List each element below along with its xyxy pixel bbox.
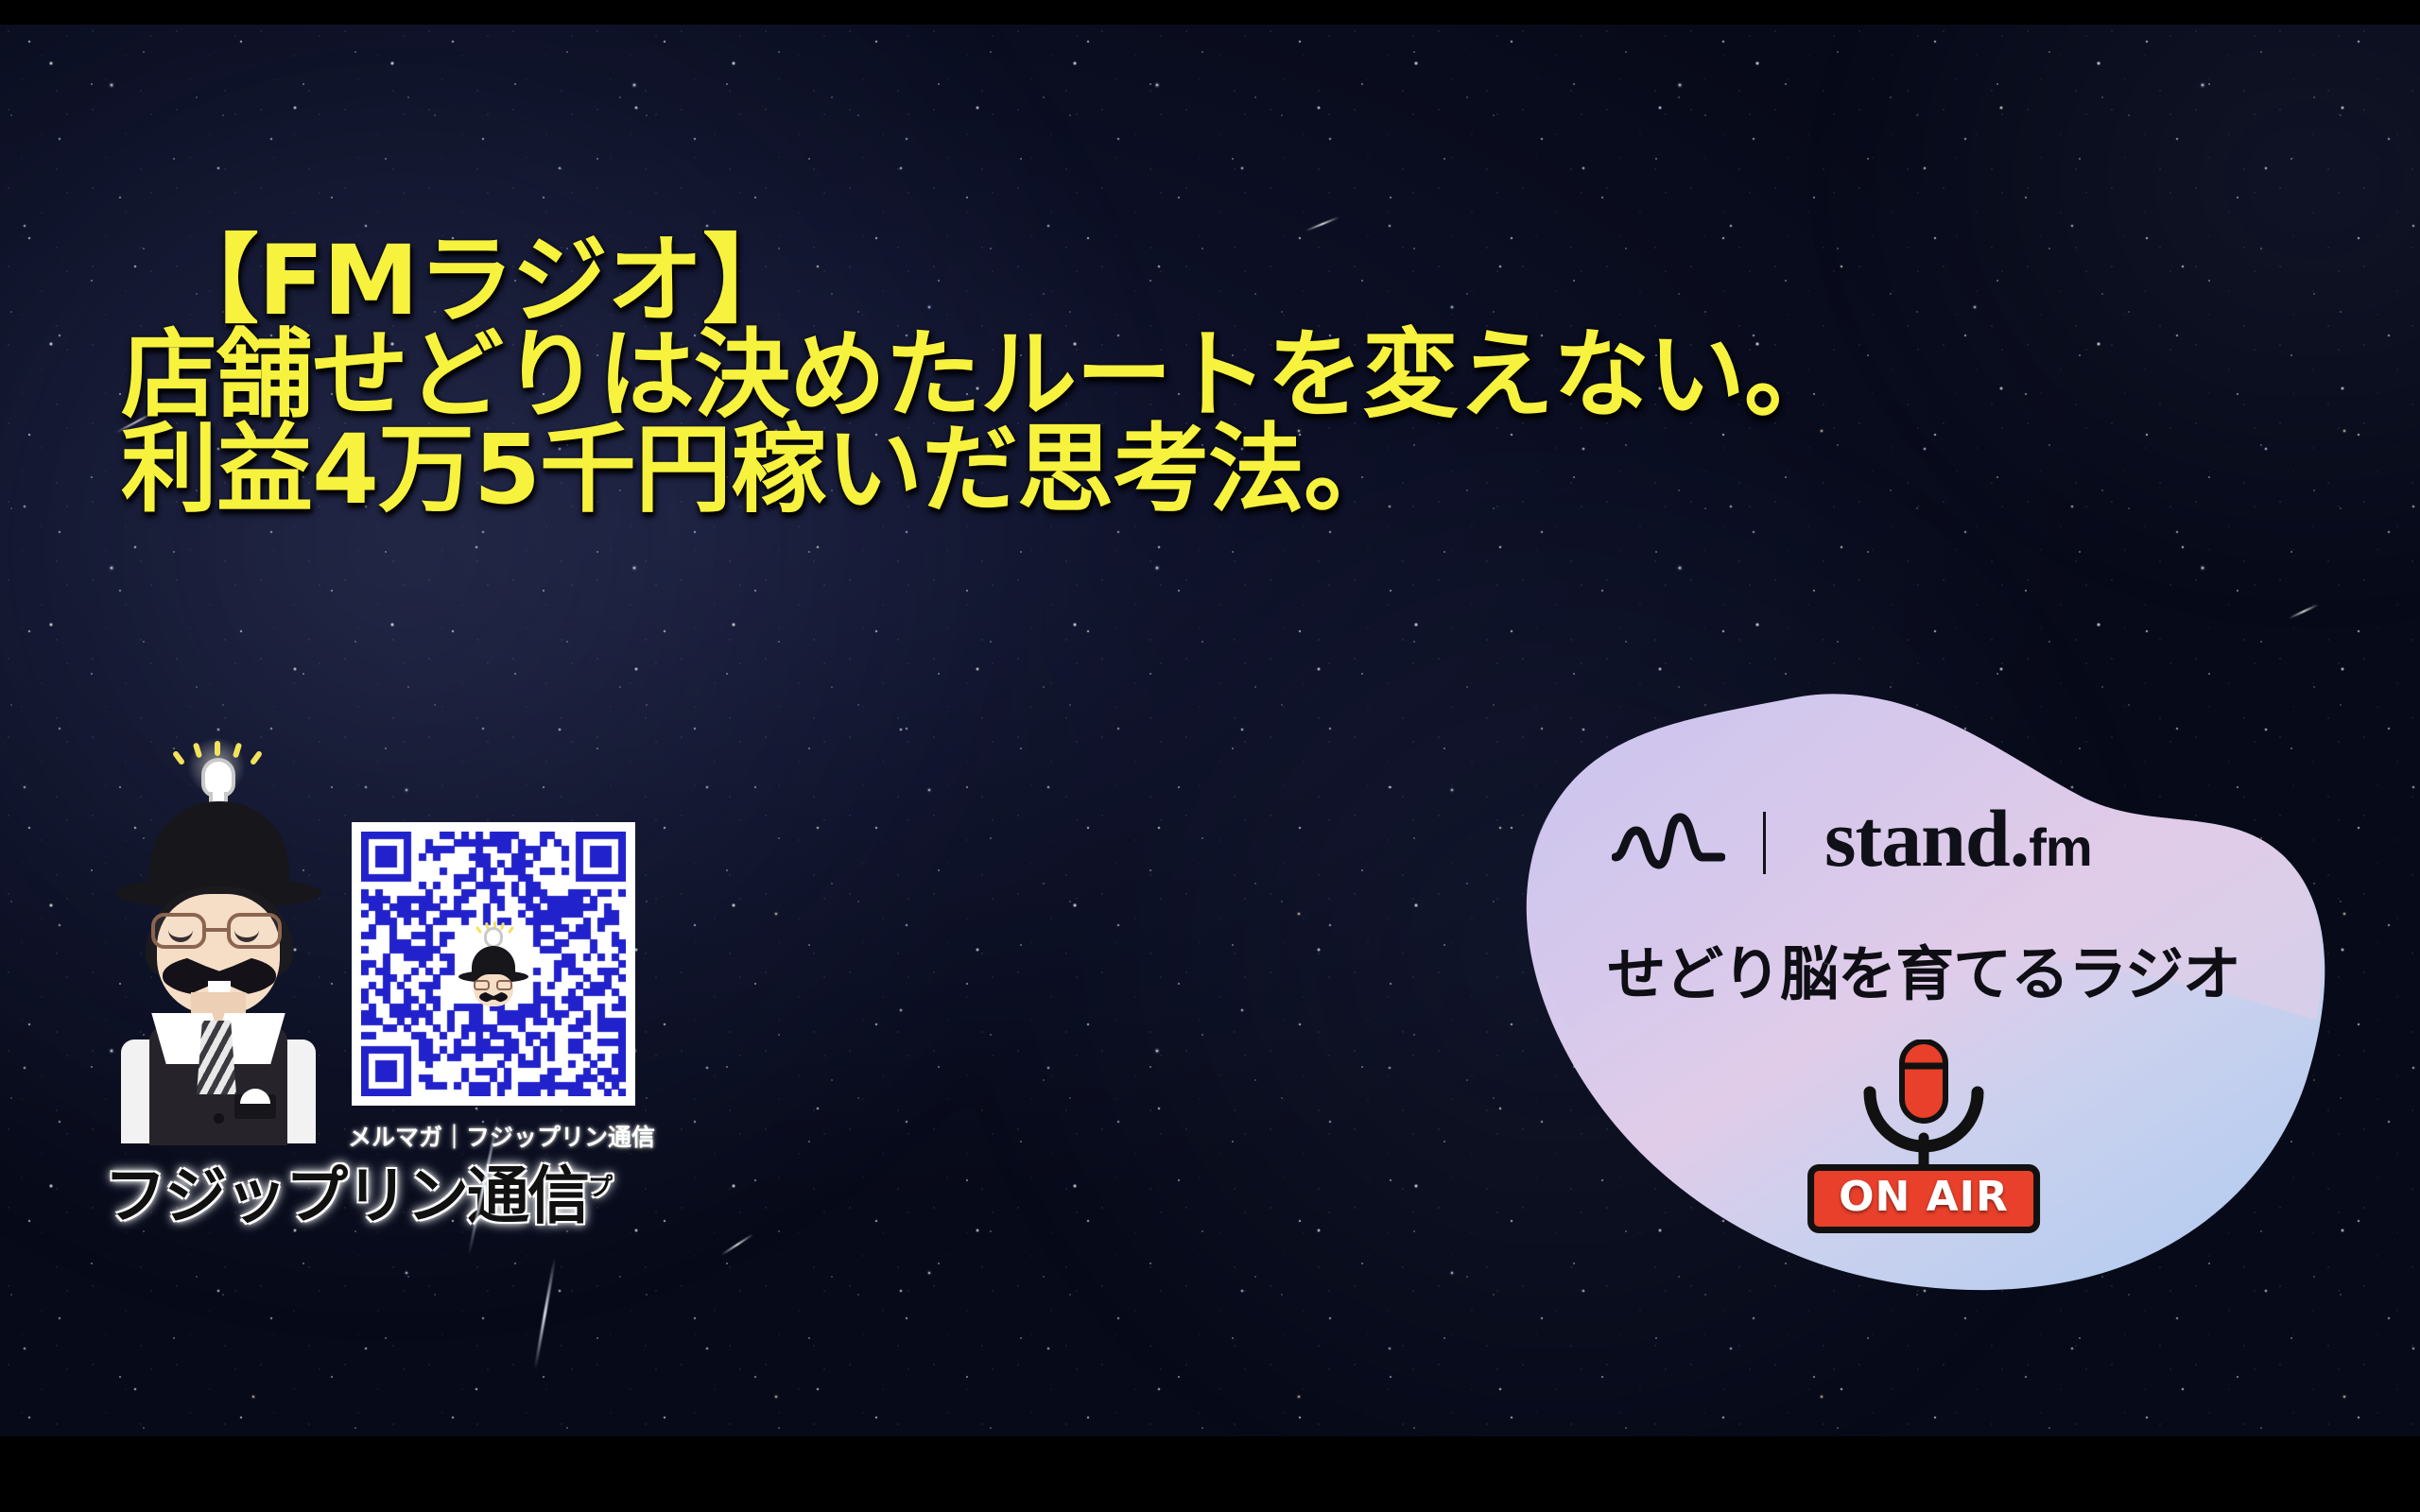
standfm-tagline: せどり脳を育てるラジオ (1512, 926, 2335, 1011)
qr-code[interactable] (352, 822, 635, 1106)
standfm-logo: stand.fm (1612, 792, 2236, 894)
qr-glasses-left (474, 980, 490, 990)
brand-wordmark-sup: プ (588, 1174, 611, 1202)
standfm-word-fm: fm (2029, 817, 2091, 877)
video-thumbnail-canvas: 【FMラジオ】 店舗せどりは決めたルートを変えない。 利益4万5千円稼いだ思考法… (0, 0, 2420, 1512)
glasses-icon (151, 913, 285, 951)
avatar (104, 737, 321, 1153)
page-title: 【FMラジオ】 店舗せどりは決めたルートを変えない。 利益4万5千円稼いだ思考法… (180, 234, 1840, 518)
letterbox-top (0, 0, 2420, 25)
sound-wave-icon (1612, 806, 1725, 880)
standfm-wordmark: stand.fm (1824, 798, 2092, 888)
microphone-icon (1843, 1039, 2004, 1181)
vertical-divider-icon (1763, 812, 1766, 874)
qr-code-pattern (361, 832, 626, 1096)
brand-cluster: メルマガ｜フジップリン通信 フジップリン通信プ (104, 728, 690, 1276)
headline-line-3: 利益4万5千円稼いだ思考法。 (121, 423, 1840, 518)
headline-line-1: 【FMラジオ】 (163, 234, 1840, 329)
brand-wordmark-text: フジップリン通信 (104, 1160, 588, 1232)
on-air-badge: ON AIR (1807, 1164, 2040, 1233)
avatar-vest-button (214, 1113, 224, 1124)
standfm-badge[interactable]: stand.fm せどり脳を育てるラジオ ON AIR (1512, 690, 2335, 1295)
standfm-word-dot: . (2010, 793, 2030, 884)
avatar-necktie (197, 1021, 236, 1094)
qr-code-center-avatar-icon (455, 921, 532, 1006)
letterbox-bottom (0, 1436, 2420, 1512)
qr-glasses-right (496, 980, 512, 990)
bowler-hat-crown (149, 801, 289, 888)
headline-line-2: 店舗せどりは決めたルートを変えない。 (121, 329, 1840, 423)
qr-lightbulb-icon (484, 927, 503, 948)
standfm-word-stand: stand (1824, 793, 2010, 884)
